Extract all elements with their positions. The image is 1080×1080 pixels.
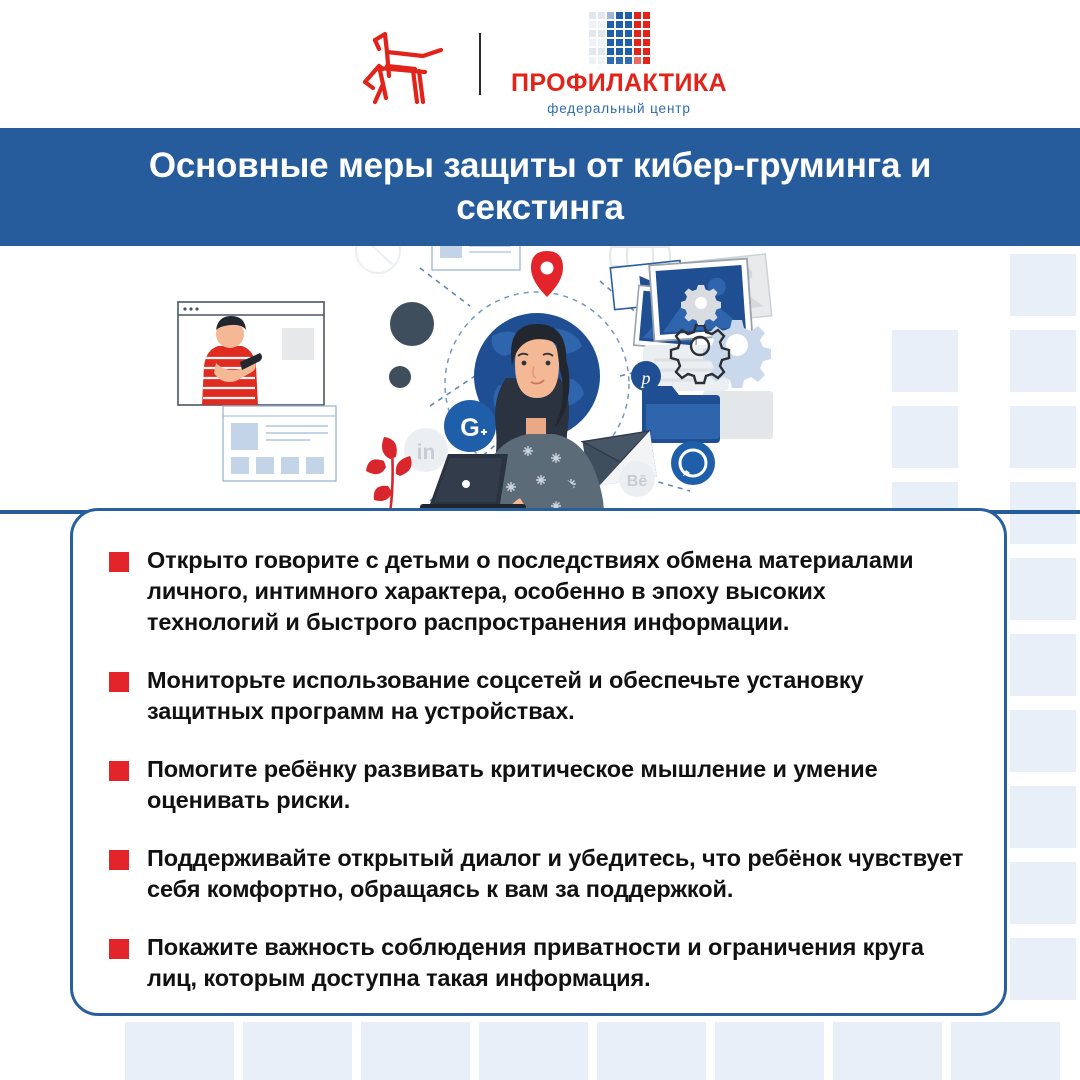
flag-grid-cell (634, 21, 641, 28)
logo-divider (479, 33, 481, 95)
flag-grid-cell (607, 21, 614, 28)
bullet-square-icon (109, 939, 129, 959)
bullet-square-icon (109, 672, 129, 692)
background-grid-cell (715, 1022, 781, 1080)
flag-grid-cell (589, 48, 596, 55)
bullet-list: Открыто говорите с детьми о последствиях… (109, 545, 964, 994)
list-item: Открыто говорите с детьми о последствиях… (109, 545, 964, 638)
flag-grid-cell (607, 48, 614, 55)
svg-text:Bē: Bē (627, 473, 648, 490)
bullet-square-icon (109, 552, 129, 572)
background-grid-cell (420, 1022, 470, 1080)
flag-grid-cell (625, 12, 632, 19)
flag-grid-cell (643, 48, 650, 55)
svg-text:in: in (417, 441, 436, 464)
flag-grid-cell (625, 48, 632, 55)
flag-grid-cell (616, 12, 623, 19)
bullet-square-icon (109, 850, 129, 870)
flag-grid-cell (598, 57, 605, 64)
list-item: Мониторьте использование соцсетей и обес… (109, 665, 964, 727)
flag-grid-cell (643, 12, 650, 19)
svg-text:G: G (460, 414, 479, 442)
background-grid-cell (538, 1022, 588, 1080)
flag-grid-cell (634, 12, 641, 19)
flag-grid-cell (589, 12, 596, 19)
background-grid-cell (597, 1022, 663, 1080)
background-grid-cell (892, 1022, 942, 1080)
svg-text:p: p (640, 368, 651, 388)
background-grid-cell (184, 1022, 234, 1080)
brand-logo: ПРОФИЛАКТИКА федеральный центр (511, 12, 727, 116)
flag-grid-cell (625, 57, 632, 64)
background-grid-cell (479, 1022, 545, 1080)
bullet-text: Поддерживайте открытый диалог и убедитес… (147, 843, 964, 905)
flag-grid-cell (598, 39, 605, 46)
recommendations-card: Открыто говорите с детьми о последствиях… (70, 508, 1007, 1016)
list-item: Покажите важность соблюдения приватности… (109, 932, 964, 994)
bullet-text: Открыто говорите с детьми о последствиях… (147, 545, 964, 638)
background-grid-cell (243, 1022, 309, 1080)
flag-grid-cell (616, 57, 623, 64)
flag-grid-cell (598, 12, 605, 19)
background-grid-cell (1010, 938, 1076, 1000)
flag-grid-cell (589, 39, 596, 46)
flag-grid-cell (625, 21, 632, 28)
background-grid-cell (951, 1022, 1017, 1080)
background-grid-cell (774, 1022, 824, 1080)
flag-grid-cell (643, 39, 650, 46)
flag-grid-cell (598, 30, 605, 37)
flag-grid-cell (598, 48, 605, 55)
brand-title: ПРОФИЛАКТИКА (511, 71, 727, 96)
flag-grid-cell (616, 30, 623, 37)
background-grid-cell (1010, 634, 1076, 696)
bullet-text: Мониторьте использование соцсетей и обес… (147, 665, 964, 727)
flag-grid-cell (625, 39, 632, 46)
flag-grid-cell (625, 30, 632, 37)
background-grid-cell (361, 1022, 427, 1080)
flag-grid-cell (616, 39, 623, 46)
background-grid-cell (1010, 710, 1076, 772)
flag-grid-cell (589, 57, 596, 64)
background-grid-cell (1010, 558, 1076, 620)
background-grid-cell (833, 1022, 899, 1080)
flag-grid-cell (616, 48, 623, 55)
list-item: Помогите ребёнку развивать критическое м… (109, 754, 964, 816)
flag-grid-cell (607, 57, 614, 64)
horse-line-art-icon (353, 22, 449, 106)
background-grid-cell (1010, 786, 1076, 848)
background-grid-cell (1010, 1022, 1060, 1080)
russian-flag-grid-icon (589, 12, 650, 64)
flag-grid-cell (643, 30, 650, 37)
background-grid-cell (125, 1022, 191, 1080)
bullet-text: Покажите важность соблюдения приватности… (147, 932, 964, 994)
flag-grid-cell (634, 39, 641, 46)
flag-grid-cell (634, 48, 641, 55)
background-grid-cell (656, 1022, 706, 1080)
flag-grid-cell (643, 57, 650, 64)
page-title: Основные меры защиты от кибер-груминга и… (90, 145, 990, 229)
page-header: ПРОФИЛАКТИКА федеральный центр (0, 0, 1080, 128)
flag-grid-cell (643, 21, 650, 28)
flag-grid-cell (607, 39, 614, 46)
title-banner: Основные меры защиты от кибер-груминга и… (0, 128, 1080, 246)
flag-grid-cell (589, 30, 596, 37)
flag-grid-cell (607, 30, 614, 37)
flag-grid-cell (607, 12, 614, 19)
flag-grid-cell (589, 21, 596, 28)
background-grid-cell (1010, 862, 1076, 924)
flag-grid-cell (598, 21, 605, 28)
flag-grid-cell (634, 57, 641, 64)
background-grid-cell (302, 1022, 352, 1080)
flag-grid-cell (634, 30, 641, 37)
bullet-text: Помогите ребёнку развивать критическое м… (147, 754, 964, 816)
flag-grid-cell (616, 21, 623, 28)
global-social-network-illustration: G in p Bē (0, 246, 1080, 514)
brand-subtitle: федеральный центр (547, 101, 691, 116)
bullet-square-icon (109, 761, 129, 781)
list-item: Поддерживайте открытый диалог и убедитес… (109, 843, 964, 905)
